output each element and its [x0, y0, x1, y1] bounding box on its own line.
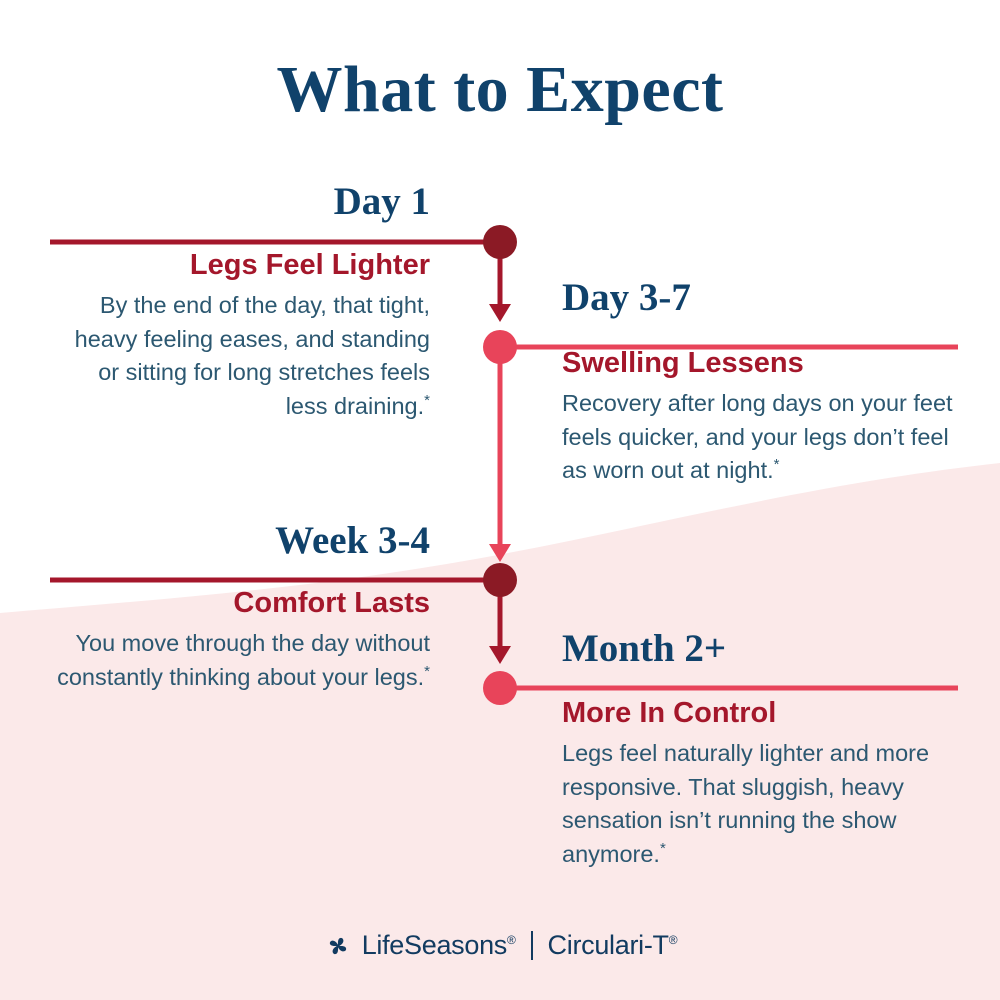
footer-brand-lockup: LifeSeasons® Circulari-T® — [0, 930, 1000, 961]
product-registered-mark: ® — [669, 933, 678, 947]
stage-2-period: Day 3-7 — [562, 278, 958, 319]
stage-3-body-text: You move through the day without constan… — [57, 630, 430, 689]
stage-2-headline: Swelling Lessens — [562, 348, 958, 380]
timeline-dot-4 — [483, 671, 517, 705]
stage-1-headline: Legs Feel Lighter — [50, 250, 430, 282]
stage-2-body: Recovery after long days on your feet fe… — [562, 387, 958, 487]
stage-1-body: By the end of the day, that tight, heavy… — [50, 289, 430, 422]
stage-4-footnote-marker: * — [660, 840, 666, 857]
brand-registered-mark: ® — [507, 933, 516, 947]
timeline-arrowhead-2-3 — [489, 544, 511, 562]
timeline-stage-3: Week 3-4 Comfort Lasts You move through … — [50, 521, 430, 694]
stage-3-body: You move through the day without constan… — [50, 627, 430, 694]
stage-1-period: Day 1 — [50, 182, 430, 223]
timeline-dot-3 — [483, 563, 517, 597]
timeline-arrowhead-3-4 — [489, 646, 511, 664]
brand-divider — [531, 931, 533, 960]
brand-name: LifeSeasons® — [362, 930, 516, 961]
stage-4-body-text: Legs feel naturally lighter and more res… — [562, 740, 929, 866]
stage-4-headline: More In Control — [562, 698, 958, 730]
stage-4-body: Legs feel naturally lighter and more res… — [562, 737, 958, 870]
stage-2-body-text: Recovery after long days on your feet fe… — [562, 390, 953, 483]
timeline-stage-2: Day 3-7 Swelling Lessens Recovery after … — [562, 278, 958, 488]
timeline-dot-2 — [483, 330, 517, 364]
infographic-canvas: What to Expect Day 1 Legs Feel Lighter B… — [0, 0, 1000, 1000]
stage-3-headline: Comfort Lasts — [50, 588, 430, 620]
lifeseasons-pinwheel-icon — [323, 931, 353, 961]
product-name: Circulari-T® — [548, 930, 678, 961]
stage-1-body-text: By the end of the day, that tight, heavy… — [75, 292, 430, 418]
stage-2-footnote-marker: * — [774, 456, 780, 473]
timeline-stage-1: Day 1 Legs Feel Lighter By the end of th… — [50, 182, 430, 423]
timeline-arrowhead-1-2 — [489, 304, 511, 322]
brand-name-text: LifeSeasons — [362, 930, 507, 960]
timeline-stage-4: Month 2+ More In Control Legs feel natur… — [562, 629, 958, 871]
timeline-dot-1 — [483, 225, 517, 259]
stage-3-period: Week 3-4 — [50, 521, 430, 562]
page-title: What to Expect — [0, 52, 1000, 128]
stage-4-period: Month 2+ — [562, 629, 958, 670]
stage-3-footnote-marker: * — [424, 663, 430, 680]
stage-1-footnote-marker: * — [424, 392, 430, 409]
product-name-text: Circulari-T — [548, 930, 669, 960]
